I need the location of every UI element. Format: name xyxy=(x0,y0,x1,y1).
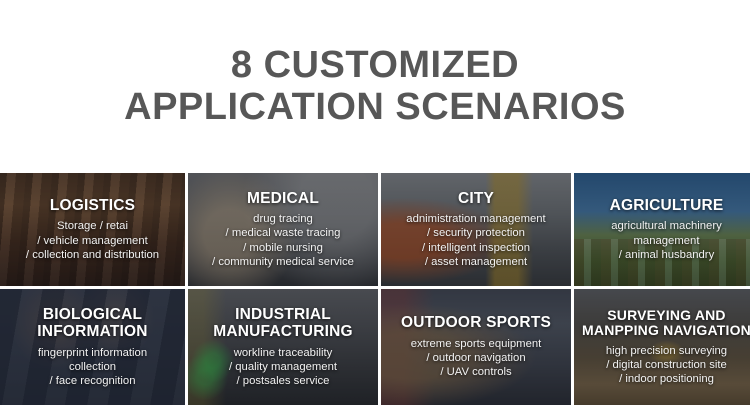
biological-information-line-3: / face recognition xyxy=(4,374,181,388)
city-line-3: / intelligent inspection xyxy=(385,241,567,255)
title-line-2: APPLICATION SCENARIOS xyxy=(124,87,626,128)
surveying-and-mapping-navigation-line-1: high precision surveying xyxy=(578,344,750,358)
medical-title: MEDICAL xyxy=(192,190,374,207)
industrial-manufacturing-content: INDUSTRIAL MANUFACTURING workline tracea… xyxy=(192,306,374,388)
scenario-card-surveying-and-mapping-navigation[interactable]: SURVEYING AND MANPPING NAVIGATION high p… xyxy=(574,289,750,405)
agriculture-line-2: management xyxy=(578,234,750,248)
scenario-card-logistics[interactable]: LOGISTICS Storage / retai / vehicle mana… xyxy=(0,173,185,286)
outdoor-sports-line-2: / outdoor navigation xyxy=(385,351,567,365)
logistics-line-2: / vehicle management xyxy=(4,234,181,248)
scenario-grid: LOGISTICS Storage / retai / vehicle mana… xyxy=(0,173,750,402)
industrial-manufacturing-description: workline traceability / quality manageme… xyxy=(192,346,374,389)
scenario-card-industrial-manufacturing[interactable]: INDUSTRIAL MANUFACTURING workline tracea… xyxy=(188,289,378,405)
outdoor-sports-content: OUTDOOR SPORTS extreme sports equipment … xyxy=(385,314,567,379)
surveying-and-mapping-navigation-description: high precision surveying / digital const… xyxy=(578,344,750,387)
surveying-and-mapping-navigation-content: SURVEYING AND MANPPING NAVIGATION high p… xyxy=(578,308,750,387)
scenario-card-medical[interactable]: MEDICAL drug tracing / medical waste tra… xyxy=(188,173,378,286)
logistics-description: Storage / retai / vehicle management / c… xyxy=(4,219,181,262)
medical-line-4: / community medical service xyxy=(192,255,374,269)
medical-line-3: / mobile nursing xyxy=(192,241,374,255)
scenario-card-agriculture[interactable]: AGRICULTURE agricultural machinery manag… xyxy=(574,173,750,286)
outdoor-sports-line-1: extreme sports equipment xyxy=(385,337,567,351)
biological-information-line-2: collection xyxy=(4,360,181,374)
city-content: CITY adnimistration management / securit… xyxy=(385,190,567,269)
agriculture-content: AGRICULTURE agricultural machinery manag… xyxy=(578,197,750,262)
city-line-2: / security protection xyxy=(385,226,567,240)
agriculture-title: AGRICULTURE xyxy=(578,197,750,214)
industrial-manufacturing-line-1: workline traceability xyxy=(192,346,374,360)
scenario-card-outdoor-sports[interactable]: OUTDOOR SPORTS extreme sports equipment … xyxy=(381,289,571,405)
surveying-and-mapping-navigation-title: SURVEYING AND MANPPING NAVIGATION xyxy=(578,308,750,339)
surveying-and-mapping-navigation-line-3: / indoor positioning xyxy=(578,372,750,386)
agriculture-line-1: agricultural machinery xyxy=(578,219,750,233)
industrial-manufacturing-line-2: / quality management xyxy=(192,360,374,374)
city-line-4: / asset management xyxy=(385,255,567,269)
city-title: CITY xyxy=(385,190,567,207)
industrial-manufacturing-title: INDUSTRIAL MANUFACTURING xyxy=(192,306,374,341)
medical-content: MEDICAL drug tracing / medical waste tra… xyxy=(192,190,374,269)
agriculture-line-3: / animal husbandry xyxy=(578,248,750,262)
industrial-manufacturing-line-3: / postsales service xyxy=(192,374,374,388)
page-title: 8 CUSTOMIZED APPLICATION SCENARIOS xyxy=(0,0,750,173)
biological-information-description: fingerprint information collection / fac… xyxy=(4,346,181,389)
medical-line-2: / medical waste tracing xyxy=(192,226,374,240)
logistics-content: LOGISTICS Storage / retai / vehicle mana… xyxy=(4,197,181,262)
logistics-line-3: / collection and distribution xyxy=(4,248,181,262)
outdoor-sports-description: extreme sports equipment / outdoor navig… xyxy=(385,337,567,380)
slide-root: 8 CUSTOMIZED APPLICATION SCENARIOS LOGIS… xyxy=(0,0,750,402)
biological-information-line-1: fingerprint information xyxy=(4,346,181,360)
logistics-title: LOGISTICS xyxy=(4,197,181,214)
scenario-card-biological-information[interactable]: BIOLOGICAL INFORMATION fingerprint infor… xyxy=(0,289,185,405)
agriculture-description: agricultural machinery management / anim… xyxy=(578,219,750,262)
biological-information-title: BIOLOGICAL INFORMATION xyxy=(4,306,181,341)
title-line-1: 8 CUSTOMIZED xyxy=(231,45,519,86)
scenario-card-city[interactable]: CITY adnimistration management / securit… xyxy=(381,173,571,286)
outdoor-sports-title: OUTDOOR SPORTS xyxy=(385,314,567,331)
medical-line-1: drug tracing xyxy=(192,212,374,226)
outdoor-sports-line-3: / UAV controls xyxy=(385,365,567,379)
logistics-line-1: Storage / retai xyxy=(4,219,181,233)
surveying-and-mapping-navigation-line-2: / digital construction site xyxy=(578,358,750,372)
biological-information-content: BIOLOGICAL INFORMATION fingerprint infor… xyxy=(4,306,181,388)
city-line-1: adnimistration management xyxy=(385,212,567,226)
city-description: adnimistration management / security pro… xyxy=(385,212,567,269)
medical-description: drug tracing / medical waste tracing / m… xyxy=(192,212,374,269)
